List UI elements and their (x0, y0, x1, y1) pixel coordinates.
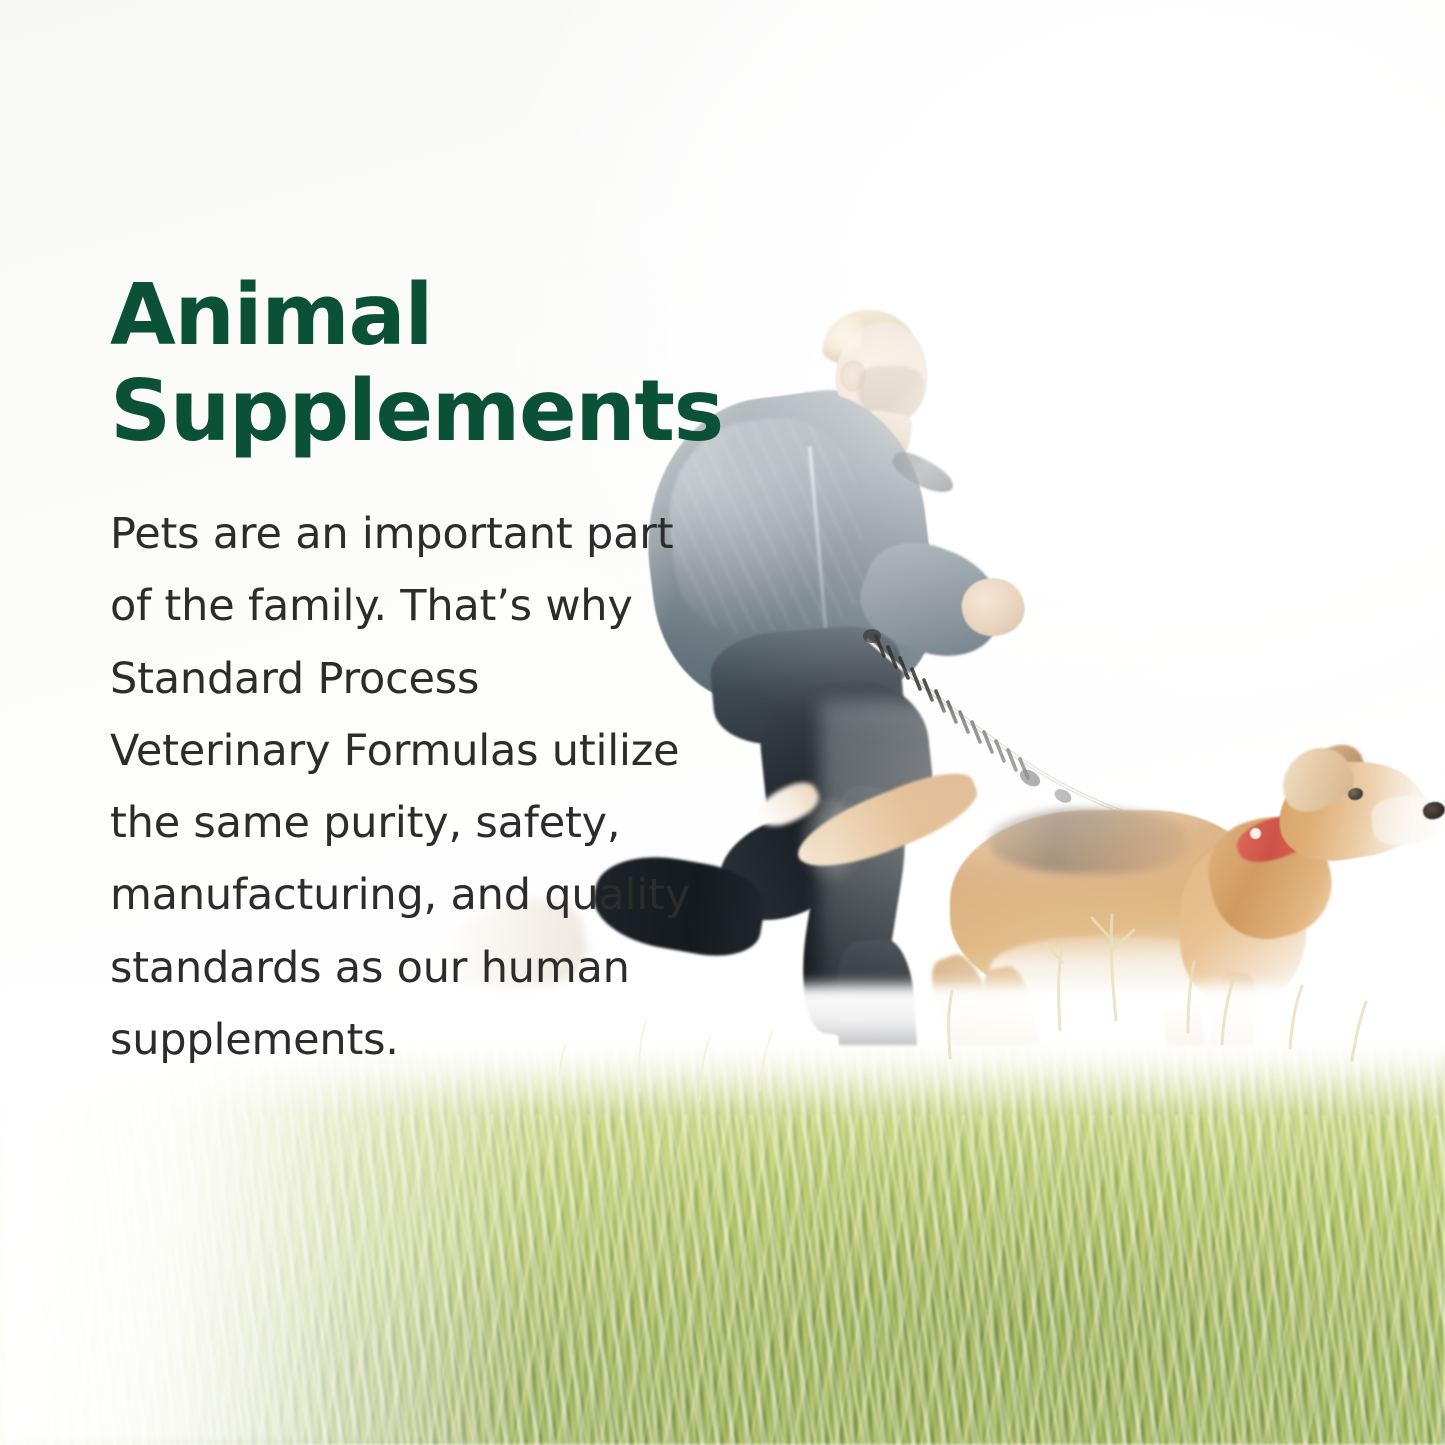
dog-muzzle (1370, 792, 1445, 847)
runner-hair-highlight (818, 314, 862, 354)
page-title: Animal Supplements (110, 268, 690, 460)
text-column: Animal Supplements Pets are an important… (110, 268, 690, 1076)
body-paragraph: Pets are an important part of the family… (110, 498, 690, 1076)
dog-saddle-marking (988, 808, 1188, 874)
dog-collar-ring (1250, 828, 1261, 839)
grass-sunwash-left (0, 1045, 520, 1445)
hero-banner: Animal Supplements Pets are an important… (0, 0, 1445, 1445)
